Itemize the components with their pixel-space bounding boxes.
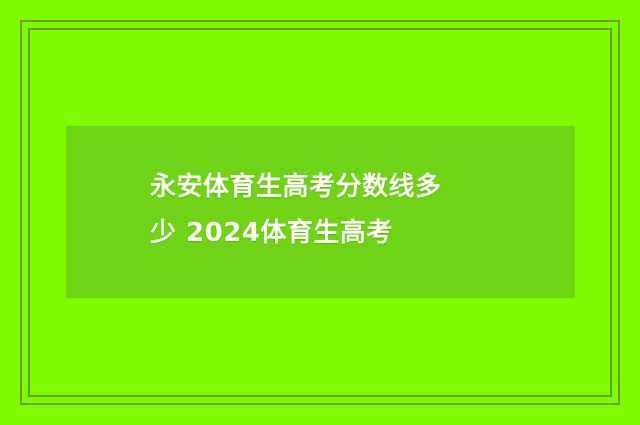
title-line-2: 少 2024体育生高考 <box>150 210 550 256</box>
title-line-1: 永安体育生高考分数线多 <box>150 164 550 210</box>
image-canvas: 永安体育生高考分数线多 少 2024体育生高考 <box>0 0 640 425</box>
title-block: 永安体育生高考分数线多 少 2024体育生高考 <box>150 164 550 256</box>
content-panel: 永安体育生高考分数线多 少 2024体育生高考 <box>66 126 575 298</box>
